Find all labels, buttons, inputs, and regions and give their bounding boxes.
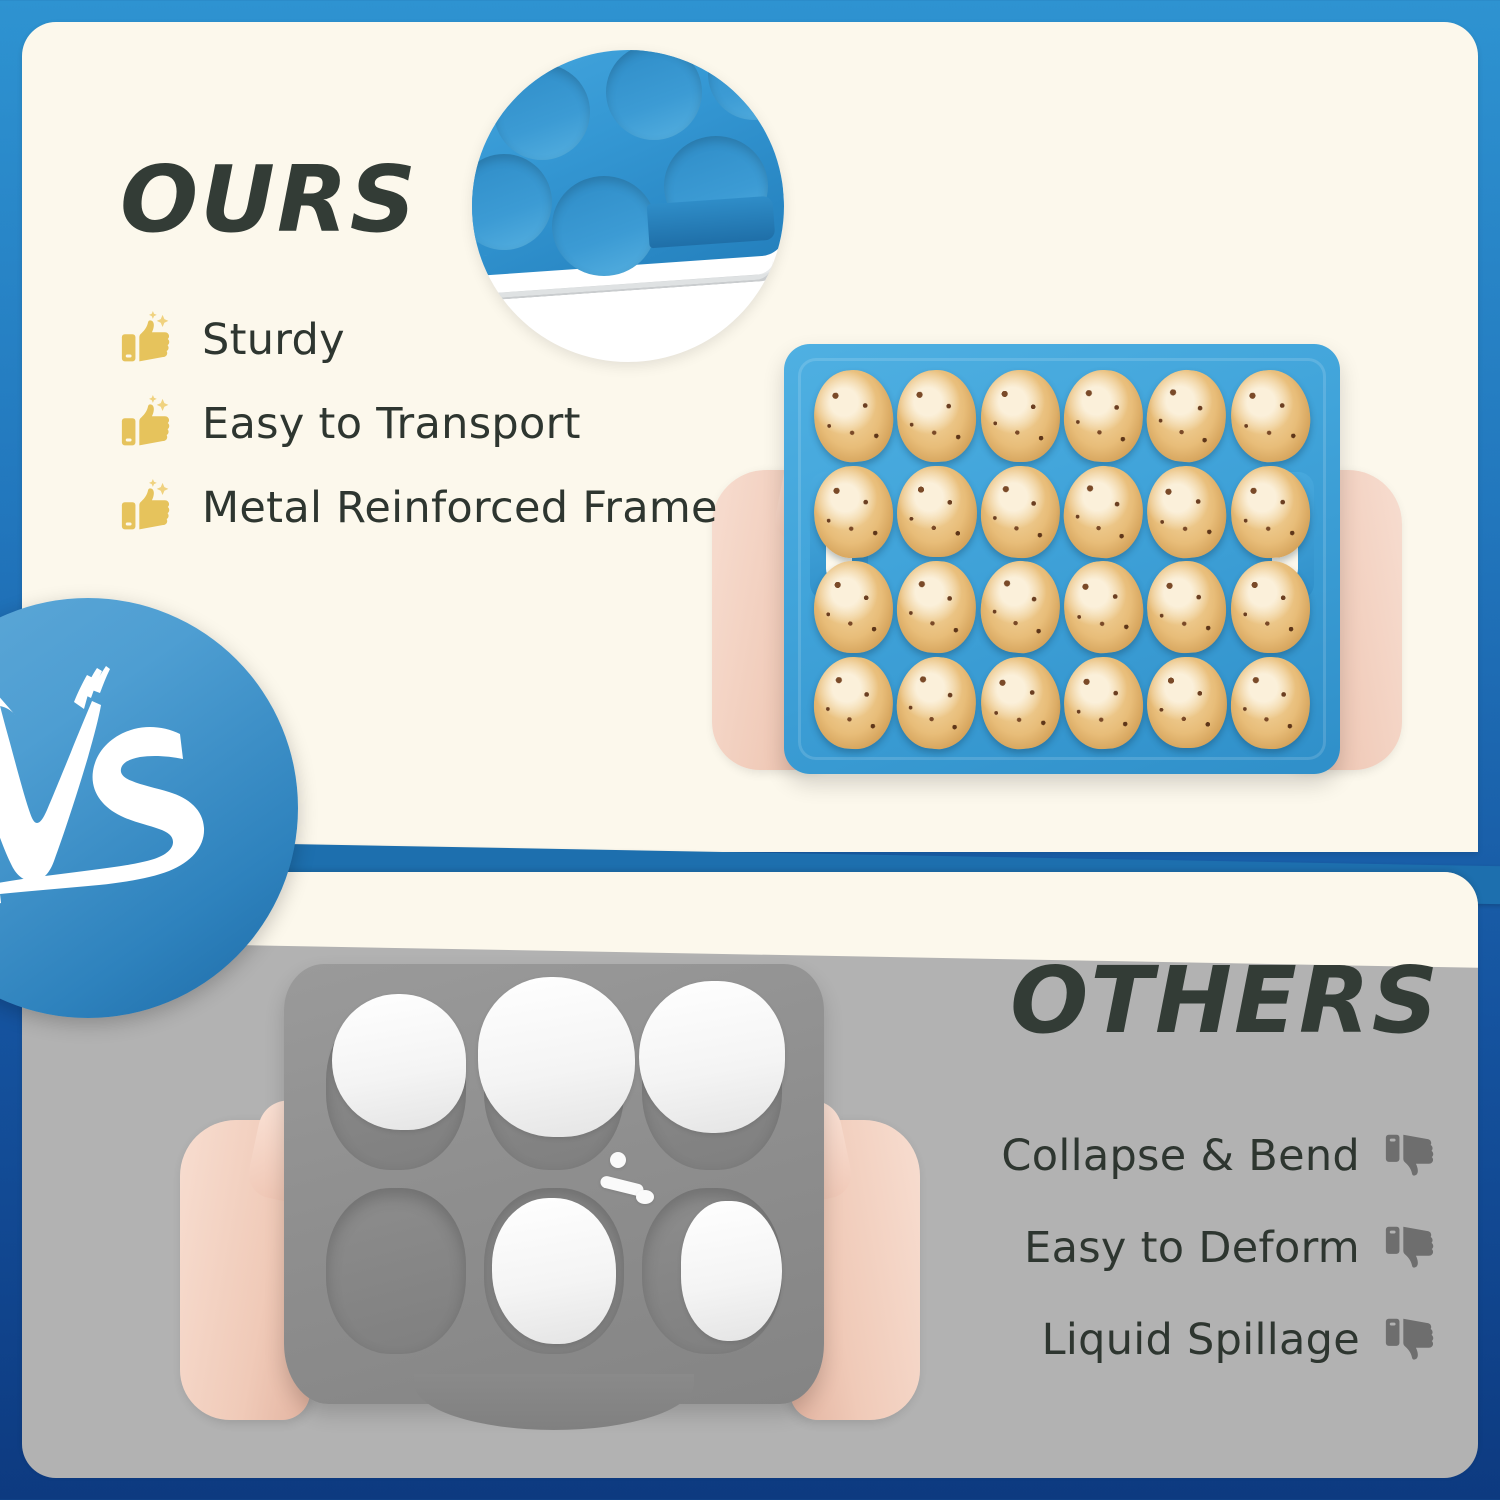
mold-cavity xyxy=(326,1004,466,1170)
muffin xyxy=(1143,462,1231,561)
others-heading: OTHERS xyxy=(1010,955,1440,1047)
thumbs-down-icon xyxy=(1382,1309,1444,1371)
muffin xyxy=(1062,368,1146,464)
muffin-grid xyxy=(814,370,1310,748)
ours-feature-item: Metal Reinforced Frame xyxy=(118,466,718,550)
gray-mold-photo xyxy=(180,950,920,1460)
muffin xyxy=(812,654,896,750)
muffin xyxy=(814,561,893,653)
muffin xyxy=(978,463,1062,559)
others-feature-label: Collapse & Bend xyxy=(1001,1131,1360,1181)
ours-feature-label: Easy to Transport xyxy=(202,399,581,449)
others-feature-label: Liquid Spillage xyxy=(1042,1315,1360,1365)
muffin xyxy=(1228,463,1312,559)
spilled-batter xyxy=(332,994,466,1130)
thumbs-up-icon xyxy=(118,393,180,455)
thumbs-up-icon xyxy=(118,309,180,371)
ours-feature-list: Sturdy Easy to Transport xyxy=(118,298,718,550)
ours-heading: OURS xyxy=(120,154,418,246)
muffin xyxy=(981,370,1060,462)
others-feature-item: Collapse & Bend xyxy=(1001,1110,1444,1202)
mold-cavity xyxy=(642,1004,782,1170)
thumbs-up-icon xyxy=(118,477,180,539)
spilled-batter xyxy=(639,981,785,1134)
others-feature-item: Easy to Deform xyxy=(1001,1202,1444,1294)
muffin xyxy=(897,466,976,558)
spilled-batter xyxy=(681,1201,782,1340)
cavity-icon xyxy=(494,64,590,160)
others-feature-label: Easy to Deform xyxy=(1024,1223,1360,1273)
muffin xyxy=(1226,366,1314,465)
batter-droplet xyxy=(636,1190,654,1204)
batter-droplet xyxy=(610,1152,626,1168)
others-feature-list: Collapse & Bend Easy to Deform xyxy=(1001,1110,1444,1386)
ours-feature-label: Sturdy xyxy=(202,315,345,365)
muffin xyxy=(1147,657,1226,749)
muffin xyxy=(893,653,981,752)
muffin xyxy=(1062,654,1146,750)
ours-feature-label: Metal Reinforced Frame xyxy=(202,483,718,533)
mold-cavity-grid xyxy=(326,1004,782,1354)
muffin xyxy=(812,463,896,559)
muffin xyxy=(1059,462,1147,561)
ours-feature-item: Sturdy xyxy=(118,298,718,382)
muffin xyxy=(895,559,979,655)
blue-muffin-tray-photo xyxy=(712,322,1402,852)
mold-cavity xyxy=(484,1188,624,1354)
others-feature-item: Liquid Spillage xyxy=(1001,1294,1444,1386)
blue-silicone-tray xyxy=(784,344,1340,774)
muffin xyxy=(1231,561,1310,653)
thumbs-down-icon xyxy=(1382,1125,1444,1187)
mold-cavity xyxy=(326,1188,466,1354)
mold-sag xyxy=(414,1374,695,1430)
thumbs-down-icon xyxy=(1382,1217,1444,1279)
muffin xyxy=(1228,654,1312,750)
spilled-batter xyxy=(478,977,635,1136)
muffin xyxy=(976,653,1064,752)
mold-cavity xyxy=(484,1004,624,1170)
gray-silicone-mold xyxy=(284,964,824,1404)
vs-badge xyxy=(0,598,298,1018)
muffin xyxy=(1145,559,1229,655)
muffin xyxy=(1059,557,1147,656)
comparison-infographic: OURS Sturdy xyxy=(0,0,1500,1500)
spilled-batter xyxy=(492,1198,615,1344)
muffin xyxy=(1143,366,1231,465)
ours-feature-item: Easy to Transport xyxy=(118,382,718,466)
muffin xyxy=(976,557,1064,656)
muffin xyxy=(895,368,979,464)
muffin xyxy=(809,366,897,465)
mold-cavity xyxy=(642,1188,782,1354)
